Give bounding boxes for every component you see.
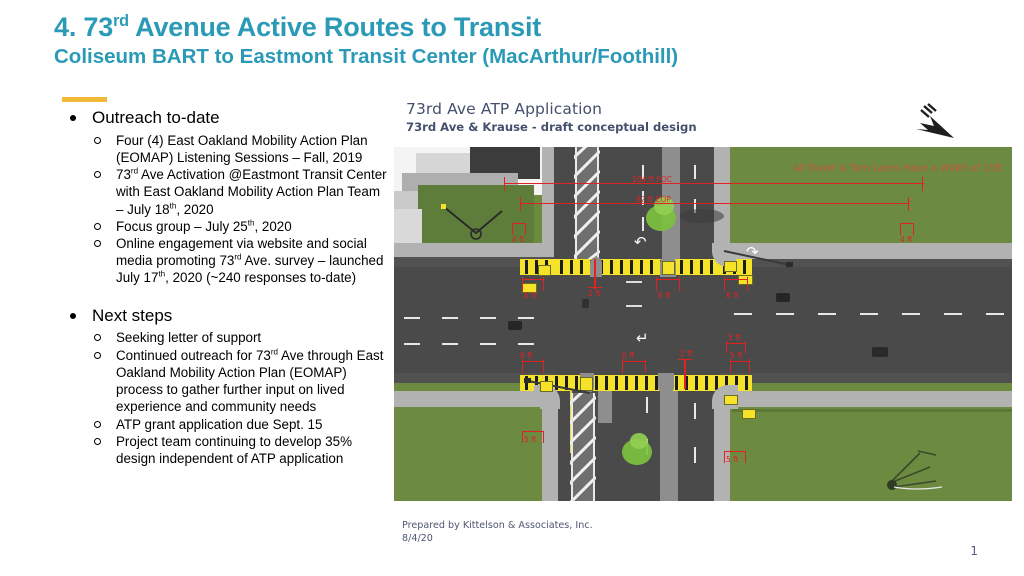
north-arrow-icon <box>910 102 964 144</box>
signal-box-icon <box>724 395 738 405</box>
list-item-label: Seeking letter of support <box>116 330 261 345</box>
next-steps-sub-list: Seeking letter of support Continued outr… <box>60 329 390 467</box>
list-item-label: Four (4) East Oakland Mobility Action Pl… <box>116 133 368 165</box>
bullet-heading-next-steps: Next steps <box>60 306 390 327</box>
list-item: Seeking letter of support <box>60 329 390 346</box>
bullet-dot-icon <box>70 313 76 319</box>
list-item: Focus group – July 25th, 2020 <box>60 218 390 235</box>
page-number: 1 <box>970 544 978 558</box>
list-item-label: Continued outreach for 73rd Ave through … <box>116 348 383 415</box>
dimension-label-eop: 92 ft EOP <box>636 195 671 204</box>
aerial-render-image: ↶ ↵ ↶ 104 ft FOC <box>394 147 1012 501</box>
list-item: 73rd Ave Activation @Eastmont Transit Ce… <box>60 166 390 218</box>
dimension-label-6ft: 6 ft <box>622 351 635 360</box>
accent-bar <box>62 97 107 102</box>
bullet-ring-icon <box>94 137 101 144</box>
dimension-label-4ft: 4 ft <box>900 235 913 244</box>
dimension-label-6ft: 6 ft <box>524 291 537 300</box>
dimension-label-6ft: 6 ft <box>520 351 533 360</box>
bullet-heading-label: Next steps <box>92 306 172 325</box>
title-block: 4. 73rd Avenue Active Routes to Transit … <box>54 12 954 69</box>
dimension-label-5ft: 5 ft <box>730 351 743 360</box>
section-gap <box>60 287 390 306</box>
outreach-sub-list: Four (4) East Oakland Mobility Action Pl… <box>60 132 390 287</box>
vehicle-icon <box>508 321 522 330</box>
dimension-label-4ft: 4 ft <box>512 235 525 244</box>
credit-line-2: 8/4/20 <box>402 533 593 546</box>
pedestrian-icon <box>582 299 589 308</box>
list-item-label: 73rd Ave Activation @Eastmont Transit Ce… <box>116 167 387 216</box>
dimension-label-6ft: 6 ft <box>726 291 739 300</box>
signal-box-icon <box>724 261 737 272</box>
turn-arrow-icon: ↵ <box>636 329 649 347</box>
hatched-median-lower <box>570 393 596 501</box>
bullet-ring-icon <box>94 421 101 428</box>
list-item: Project team continuing to develop 35% d… <box>60 433 390 467</box>
signal-box-icon <box>742 409 756 419</box>
dimension-label-2ft: 2 ft <box>588 289 601 298</box>
list-item: ATP grant application due Sept. 15 <box>60 416 390 433</box>
dimension-label-6ft: 6 ft <box>658 291 671 300</box>
page-title: 4. 73rd Avenue Active Routes to Transit <box>54 12 954 42</box>
tree-icon <box>630 433 648 449</box>
vehicle-icon <box>776 293 790 302</box>
landscape-sculpture <box>884 437 950 493</box>
dimension-label-5ft: 5 ft <box>726 455 739 464</box>
list-item: Online engagement via website and social… <box>60 235 390 287</box>
bullet-ring-icon <box>94 352 101 359</box>
dimension-label-foc: 104 ft FOC <box>632 175 672 184</box>
list-item: Four (4) East Oakland Mobility Action Pl… <box>60 132 390 166</box>
list-item-label: Online engagement via website and social… <box>116 236 383 285</box>
credit-line-1: Prepared by Kittelson & Associates, Inc. <box>402 520 593 533</box>
bullet-ring-icon <box>94 171 101 178</box>
turn-arrow-icon: ↶ <box>634 233 647 251</box>
list-item-label: Project team continuing to develop 35% d… <box>116 434 352 466</box>
bullet-heading-outreach: Outreach to-date <box>60 108 390 129</box>
bullet-ring-icon <box>94 438 101 445</box>
dimension-label-5ft: 5 ft <box>728 333 741 342</box>
signal-box-icon <box>538 265 551 276</box>
crosswalk-north <box>554 259 720 275</box>
bullet-ring-icon <box>94 334 101 341</box>
signal-box-icon <box>540 381 553 392</box>
page-subtitle: Coliseum BART to Eastmont Transit Center… <box>54 45 954 69</box>
rendering-subtitle: 73rd Ave & Krause - draft conceptual des… <box>406 120 697 134</box>
list-item-label: ATP grant application due Sept. 15 <box>116 417 322 432</box>
bullet-dot-icon <box>70 115 76 121</box>
dimension-label-2ft: 2 ft <box>680 349 693 358</box>
list-item-label: Focus group – July 25th, 2020 <box>116 219 292 234</box>
design-rendering-panel: 73rd Ave ATP Application 73rd Ave & Krau… <box>394 96 1012 544</box>
lane-width-note: All Travel & Turn Lanes Have a Width of … <box>790 163 1002 176</box>
bullet-ring-icon <box>94 223 101 230</box>
title-superscript: rd <box>113 12 129 30</box>
bullet-content: Outreach to-date Four (4) East Oakland M… <box>60 108 390 467</box>
rendering-title: 73rd Ave ATP Application <box>406 100 602 118</box>
vehicle-icon <box>872 347 888 357</box>
bullet-ring-icon <box>94 240 101 247</box>
list-item: Continued outreach for 73rd Ave through … <box>60 347 390 416</box>
bullet-heading-label: Outreach to-date <box>92 108 220 127</box>
rendering-credit: Prepared by Kittelson & Associates, Inc.… <box>402 520 593 546</box>
dimension-label-5ft: 5 ft <box>524 435 537 444</box>
